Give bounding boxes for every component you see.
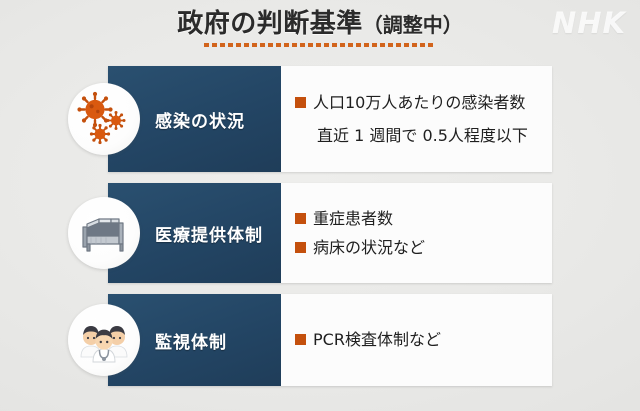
bullet-text: PCR検査体制など — [313, 328, 441, 351]
page-title: 政府の判断基準（調整中） — [0, 10, 640, 47]
row-content-3: PCR検査体制など — [281, 294, 552, 386]
bullet-square-icon — [295, 334, 306, 345]
bullet-text: 病床の状況など — [313, 236, 425, 259]
bullet-item: 重症患者数 — [295, 207, 542, 230]
bullet-text: 人口10万人あたりの感染者数 — [313, 91, 525, 114]
row-label-text-1: 感染の状況 — [155, 107, 245, 132]
row-label-text-2: 医療提供体制 — [155, 221, 263, 246]
infographic-screen: NHK 政府の判断基準（調整中） — [0, 0, 640, 411]
bullet-text: 重症患者数 — [313, 207, 393, 230]
criteria-row-infection: 感染の状況 人口10万人あたりの感染者数 直近 1 週間で 0.5人程度以下 — [108, 66, 552, 172]
page-title-text: 政府の判断基準（調整中） — [177, 10, 463, 40]
hospital-bed-icon — [68, 197, 140, 269]
criteria-row-medical: 医療提供体制 重症患者数 病床の状況など — [108, 183, 552, 283]
bullet-square-icon — [295, 242, 306, 253]
row-content-2: 重症患者数 病床の状況など — [281, 183, 552, 283]
criteria-list: 感染の状況 人口10万人あたりの感染者数 直近 1 週間で 0.5人程度以下 — [108, 66, 552, 397]
page-title-suffix: （調整中） — [363, 13, 463, 37]
criteria-row-surveillance: 監視体制 PCR検査体制など — [108, 294, 552, 386]
bullet-square-icon — [295, 213, 306, 224]
bullet-subline: 直近 1 週間で 0.5人程度以下 — [295, 124, 542, 147]
bullet-item: PCR検査体制など — [295, 328, 542, 351]
title-underline-dots — [204, 43, 436, 47]
medical-staff-icon — [68, 304, 140, 376]
row-label-text-3: 監視体制 — [155, 328, 227, 353]
row-label-box-1: 感染の状況 — [108, 66, 281, 172]
bullet-item: 病床の状況など — [295, 236, 542, 259]
page-title-main: 政府の判断基準 — [177, 9, 363, 39]
bullet-square-icon — [295, 97, 306, 108]
row-label-box-3: 監視体制 — [108, 294, 281, 386]
row-label-box-2: 医療提供体制 — [108, 183, 281, 283]
virus-icon — [68, 83, 140, 155]
row-content-1: 人口10万人あたりの感染者数 直近 1 週間で 0.5人程度以下 — [281, 66, 552, 172]
bullet-item: 人口10万人あたりの感染者数 — [295, 91, 542, 114]
